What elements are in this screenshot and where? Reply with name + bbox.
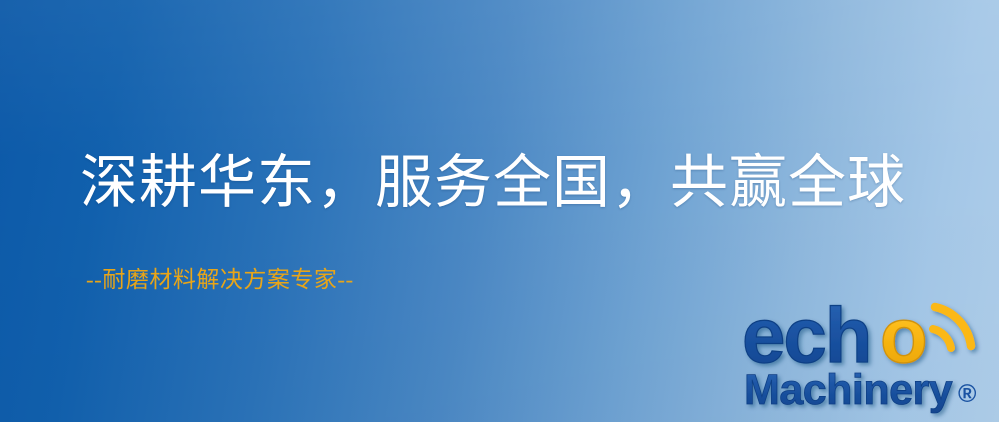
svg-text:Machinery: Machinery bbox=[744, 366, 953, 414]
svg-text:®: ® bbox=[958, 380, 977, 408]
promotional-banner: 深耕华东，服务全国，共赢全球 --耐磨材料解决方案专家-- bbox=[0, 0, 999, 422]
registered-trademark-icon: ® bbox=[958, 380, 977, 408]
banner-subtitle: --耐磨材料解决方案专家-- bbox=[86, 266, 354, 294]
signal-wave-icon bbox=[933, 307, 971, 348]
banner-headline: 深耕华东，服务全国，共赢全球 bbox=[80, 152, 906, 213]
logo-text-machinery: Machinery bbox=[744, 366, 953, 414]
echo-machinery-logo: ech o Machinery ® bbox=[742, 296, 994, 420]
